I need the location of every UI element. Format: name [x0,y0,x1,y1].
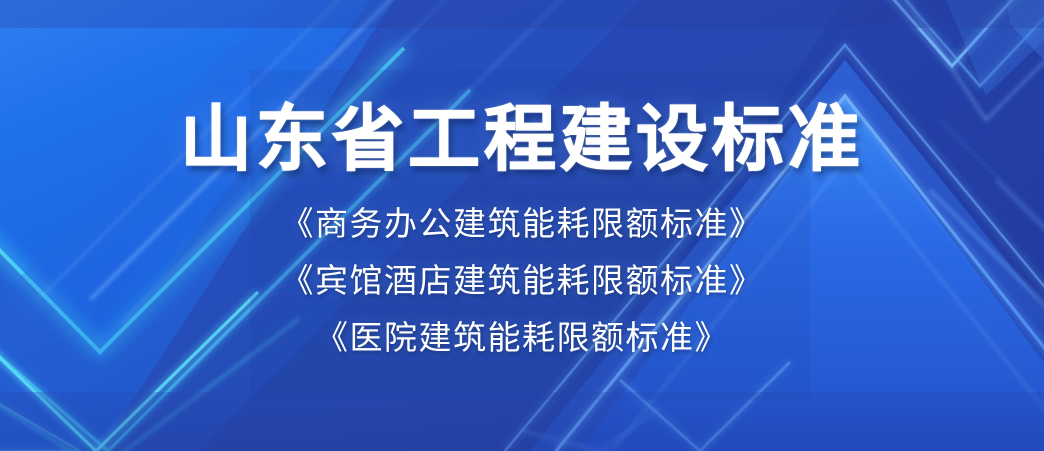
standard-item-3: 《医院建筑能耗限额标准》 [315,316,729,360]
banner-content: 山东省工程建设标准 《商务办公建筑能耗限额标准》 《宾馆酒店建筑能耗限额标准》 … [0,0,1044,451]
promotional-banner: 山东省工程建设标准 《商务办公建筑能耗限额标准》 《宾馆酒店建筑能耗限额标准》 … [0,0,1044,451]
standard-list: 《商务办公建筑能耗限额标准》 《宾馆酒店建筑能耗限额标准》 《医院建筑能耗限额标… [281,202,764,360]
page-title: 山东省工程建设标准 [180,96,864,182]
standard-item-2: 《宾馆酒店建筑能耗限额标准》 [281,259,764,303]
standard-item-1: 《商务办公建筑能耗限额标准》 [281,202,764,246]
